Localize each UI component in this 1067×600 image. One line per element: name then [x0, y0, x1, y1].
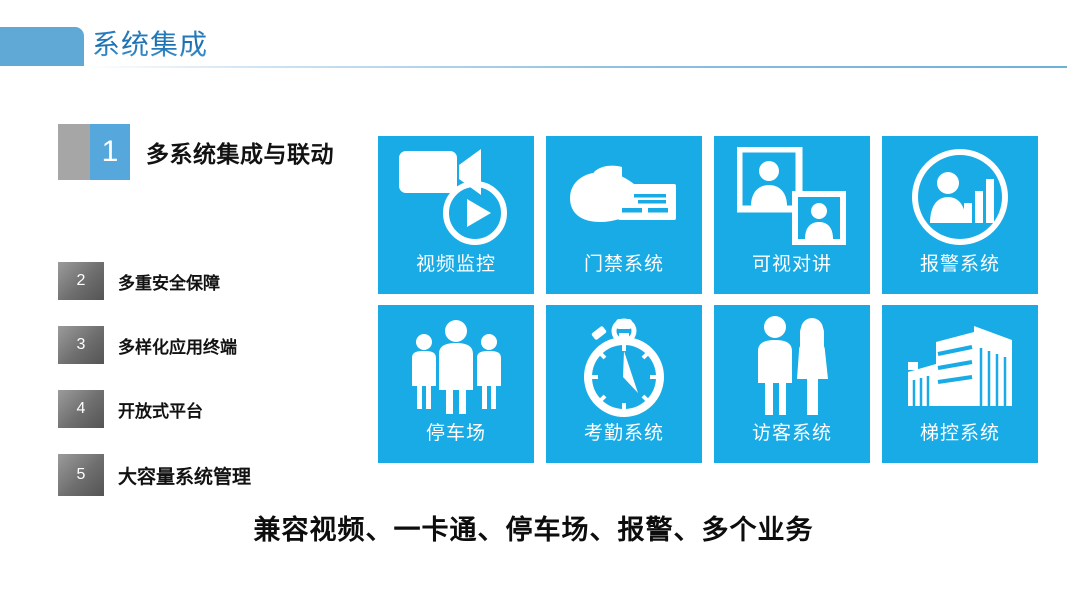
tile-alarm-system-label: 报警系统 [882, 249, 1038, 276]
sidebar-item-2[interactable]: 2 多重安全保障 [58, 262, 220, 300]
tile-alarm-system[interactable]: 报警系统 [882, 136, 1038, 294]
sidebar-item-3-number: 3 [58, 326, 104, 364]
tile-video-intercom[interactable]: 可视对讲 [714, 136, 870, 294]
sidebar-item-1-number-box: 1 [58, 124, 130, 180]
hand-access-card-icon [546, 144, 702, 250]
three-people-icon [378, 313, 534, 419]
page-title: 系统集成 [92, 23, 208, 63]
sidebar-item-4-number: 4 [58, 390, 104, 428]
sidebar-item-1-number: 1 [90, 124, 130, 180]
man-woman-icon [714, 313, 870, 419]
sidebar: 1 多系统集成与联动 2 多重安全保障 3 多样化应用终端 4 开放式平台 5 … [0, 110, 370, 510]
sidebar-item-2-label: 多重安全保障 [118, 269, 220, 294]
tile-elevator-control-label: 梯控系统 [882, 418, 1038, 445]
sidebar-item-5[interactable]: 5 大容量系统管理 [58, 454, 251, 496]
sidebar-item-3-label: 多样化应用终端 [118, 333, 237, 358]
person-bar-chart-circle-icon [882, 144, 1038, 250]
sidebar-item-1[interactable]: 1 多系统集成与联动 [58, 124, 334, 180]
tile-visitor-system-label: 访客系统 [714, 418, 870, 445]
tile-attendance-system[interactable]: 考勤系统 [546, 305, 702, 463]
slide-caption: 兼容视频、一卡通、停车场、报警、多个业务 [0, 508, 1067, 547]
header-rule-cap [0, 61, 84, 66]
sidebar-item-4[interactable]: 4 开放式平台 [58, 390, 203, 428]
tile-parking-lot-label: 停车场 [378, 418, 534, 445]
tile-parking-lot[interactable]: 停车场 [378, 305, 534, 463]
tile-access-control[interactable]: 门禁系统 [546, 136, 702, 294]
tile-video-surveillance[interactable]: 视频监控 [378, 136, 534, 294]
tile-video-intercom-label: 可视对讲 [714, 249, 870, 276]
tile-visitor-system[interactable]: 访客系统 [714, 305, 870, 463]
header-divider [84, 66, 1067, 68]
sidebar-item-5-label: 大容量系统管理 [118, 462, 251, 489]
video-camera-play-icon [378, 144, 534, 250]
stopwatch-icon [546, 313, 702, 419]
tile-video-surveillance-label: 视频监控 [378, 249, 534, 276]
two-portrait-frames-icon [714, 144, 870, 250]
sidebar-item-5-number: 5 [58, 454, 104, 496]
sidebar-item-2-number: 2 [58, 262, 104, 300]
tile-attendance-system-label: 考勤系统 [546, 418, 702, 445]
system-tile-grid: 视频监控 门禁系统 [378, 136, 1039, 463]
tile-access-control-label: 门禁系统 [546, 249, 702, 276]
tile-elevator-control[interactable]: 梯控系统 [882, 305, 1038, 463]
building-icon [882, 313, 1038, 419]
slide-header: 系统集成 [0, 0, 1067, 70]
sidebar-item-3[interactable]: 3 多样化应用终端 [58, 326, 237, 364]
header-tab-shape [0, 27, 84, 61]
sidebar-item-1-label: 多系统集成与联动 [146, 135, 334, 169]
sidebar-item-4-label: 开放式平台 [118, 397, 203, 422]
